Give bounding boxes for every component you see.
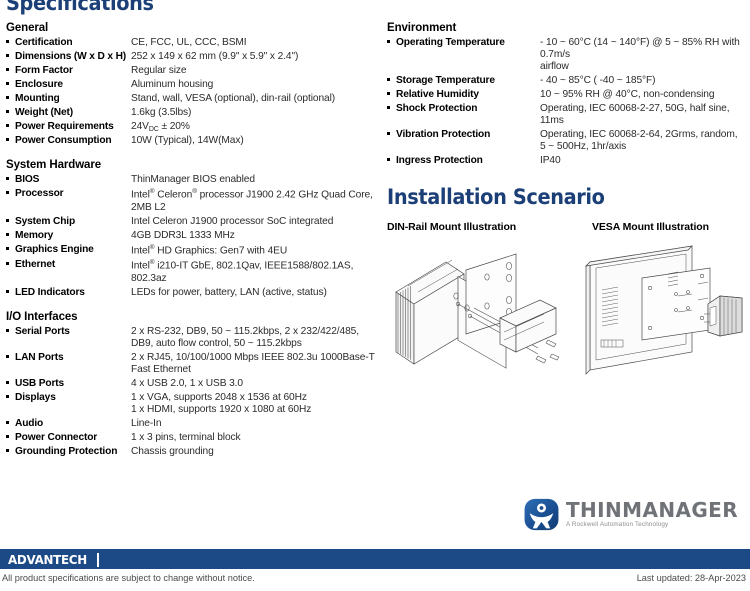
spec-row: EnclosureAluminum housing bbox=[6, 79, 380, 93]
spec-row: System ChipIntel Celeron J1900 processor… bbox=[6, 216, 380, 230]
spec-table-general: CertificationCE, FCC, UL, CCC, BSMIDimen… bbox=[6, 37, 380, 149]
bullet-icon bbox=[6, 216, 15, 227]
bullet-icon bbox=[6, 65, 15, 76]
spec-value: 10 ~ 95% RH @ 40°C, non-condensing bbox=[540, 89, 747, 103]
spec-label: Ethernet bbox=[6, 259, 131, 286]
spec-row: Storage Temperature- 40 ~ 85°C ( -40 ~ 1… bbox=[387, 75, 747, 89]
spec-value: 4 x USB 2.0, 1 x USB 3.0 bbox=[131, 378, 380, 392]
spec-value: Operating, IEC 60068-2-64, 2Grms, random… bbox=[540, 129, 747, 155]
spec-row: Memory4GB DDR3L 1333 MHz bbox=[6, 230, 380, 244]
spec-label: Power Requirements bbox=[6, 121, 131, 135]
bullet-icon bbox=[6, 418, 15, 429]
spec-label: System Chip bbox=[6, 216, 131, 230]
section-heading-environment: Environment bbox=[387, 22, 747, 34]
spec-value: 2 x RJ45, 10/100/1000 Mbps IEEE 802.3u 1… bbox=[131, 352, 380, 378]
thinmanager-mark-icon bbox=[524, 498, 559, 531]
datasheet-page: Specifications General CertificationCE, … bbox=[0, 0, 750, 591]
spec-value: 24VDC ± 20% bbox=[131, 121, 380, 135]
bullet-icon bbox=[387, 155, 396, 166]
bullet-icon bbox=[6, 259, 15, 270]
spec-row: CertificationCE, FCC, UL, CCC, BSMI bbox=[6, 37, 380, 51]
disclaimer-text: All product specifications are subject t… bbox=[2, 573, 255, 583]
spec-label: Memory bbox=[6, 230, 131, 244]
spec-row: Serial Ports2 x RS-232, DB9, 50 ~ 115.2k… bbox=[6, 326, 380, 352]
spec-row: Graphics EngineIntel® HD Graphics: Gen7 … bbox=[6, 244, 380, 259]
advantech-wordmark: ADVANTECH bbox=[8, 552, 87, 567]
spec-value: - 40 ~ 85°C ( -40 ~ 185°F) bbox=[540, 75, 747, 89]
spec-value: ThinManager BIOS enabled bbox=[131, 174, 380, 188]
bullet-icon bbox=[387, 103, 396, 114]
bullet-icon bbox=[6, 352, 15, 363]
spec-label: USB Ports bbox=[6, 378, 131, 392]
spec-row: Weight (Net)1.6kg (3.5lbs) bbox=[6, 107, 380, 121]
spec-value: Aluminum housing bbox=[131, 79, 380, 93]
spec-label: Enclosure bbox=[6, 79, 131, 93]
din-rail-illustration-label: DIN-Rail Mount Illustration bbox=[387, 221, 516, 233]
spec-label: Shock Protection bbox=[387, 103, 540, 129]
section-heading-system-hardware: System Hardware bbox=[6, 159, 380, 171]
bullet-icon bbox=[6, 326, 15, 337]
spec-value: 252 x 149 x 62 mm (9.9" x 5.9" x 2.4") bbox=[131, 51, 380, 65]
bullet-icon bbox=[6, 107, 15, 118]
spec-label: Ingress Protection bbox=[387, 155, 540, 169]
thinmanager-logo: THINMANAGER A Rockwell Automation Techno… bbox=[524, 498, 738, 531]
spec-value: Regular size bbox=[131, 65, 380, 79]
spec-value: 4GB DDR3L 1333 MHz bbox=[131, 230, 380, 244]
spec-row: ProcessorIntel® Celeron® processor J1900… bbox=[6, 188, 380, 215]
spec-label: Audio bbox=[6, 418, 131, 432]
spec-row: Vibration ProtectionOperating, IEC 60068… bbox=[387, 129, 747, 155]
spec-row: LED IndicatorsLEDs for power, battery, L… bbox=[6, 287, 380, 301]
spec-value: 10W (Typical), 14W(Max) bbox=[131, 135, 380, 149]
section-heading-general: General bbox=[6, 22, 380, 34]
spec-label: Displays bbox=[6, 392, 131, 418]
spec-row: Power Requirements24VDC ± 20% bbox=[6, 121, 380, 135]
spec-row: BIOSThinManager BIOS enabled bbox=[6, 174, 380, 188]
bullet-icon bbox=[387, 37, 396, 48]
spec-label: Vibration Protection bbox=[387, 129, 540, 155]
bullet-icon bbox=[6, 392, 15, 403]
vesa-illustration-label: VESA Mount Illustration bbox=[592, 221, 709, 233]
logo-divider bbox=[97, 553, 99, 567]
spec-row: LAN Ports2 x RJ45, 10/100/1000 Mbps IEEE… bbox=[6, 352, 380, 378]
spec-value: Line-In bbox=[131, 418, 380, 432]
spec-value: Chassis grounding bbox=[131, 446, 380, 460]
spec-label: LAN Ports bbox=[6, 352, 131, 378]
bullet-icon bbox=[6, 188, 15, 199]
bullet-icon bbox=[6, 432, 15, 443]
spec-row: Grounding ProtectionChassis grounding bbox=[6, 446, 380, 460]
bullet-icon bbox=[387, 89, 396, 100]
thinmanager-tagline: A Rockwell Automation Technology bbox=[566, 522, 738, 528]
spec-row: AudioLine-In bbox=[6, 418, 380, 432]
spec-label: Storage Temperature bbox=[387, 75, 540, 89]
footer-bar bbox=[0, 549, 750, 569]
spec-label: Relative Humidity bbox=[387, 89, 540, 103]
spec-row: Dimensions (W x D x H)252 x 149 x 62 mm … bbox=[6, 51, 380, 65]
spec-value: IP40 bbox=[540, 155, 747, 169]
spec-value: 1.6kg (3.5lbs) bbox=[131, 107, 380, 121]
bullet-icon bbox=[6, 121, 15, 132]
spec-row: Displays1 x VGA, supports 2048 x 1536 at… bbox=[6, 392, 380, 418]
spec-label: Weight (Net) bbox=[6, 107, 131, 121]
spec-row: Shock ProtectionOperating, IEC 60068-2-2… bbox=[387, 103, 747, 129]
section-heading-io-interfaces: I/O Interfaces bbox=[6, 311, 380, 323]
bullet-icon bbox=[6, 51, 15, 62]
last-updated-text: Last updated: 28-Apr-2023 bbox=[637, 573, 746, 583]
spec-value: 1 x VGA, supports 2048 x 1536 at 60Hz1 x… bbox=[131, 392, 380, 418]
right-column: Environment Operating Temperature- 10 ~ … bbox=[387, 22, 747, 169]
spec-row: Power Consumption10W (Typical), 14W(Max) bbox=[6, 135, 380, 149]
spec-value: Intel® HD Graphics: Gen7 with 4EU bbox=[131, 244, 380, 259]
advantech-logo: ADVANTECH bbox=[8, 552, 99, 567]
spec-label: LED Indicators bbox=[6, 287, 131, 301]
spec-label: Processor bbox=[6, 188, 131, 215]
installation-scenario-title: Installation Scenario bbox=[387, 185, 605, 209]
bullet-icon bbox=[387, 129, 396, 140]
bullet-icon bbox=[6, 37, 15, 48]
spec-label: Power Consumption bbox=[6, 135, 131, 149]
bullet-icon bbox=[6, 135, 15, 146]
spec-label: BIOS bbox=[6, 174, 131, 188]
spec-value: Operating, IEC 60068-2-27, 50G, half sin… bbox=[540, 103, 747, 129]
bullet-icon bbox=[6, 93, 15, 104]
spec-label: Power Connector bbox=[6, 432, 131, 446]
spec-row: Form FactorRegular size bbox=[6, 65, 380, 79]
spec-row: USB Ports4 x USB 2.0, 1 x USB 3.0 bbox=[6, 378, 380, 392]
spec-label: Operating Temperature bbox=[387, 37, 540, 75]
spec-table-io-interfaces: Serial Ports2 x RS-232, DB9, 50 ~ 115.2k… bbox=[6, 326, 380, 460]
spec-table-system-hardware: BIOSThinManager BIOS enabledProcessorInt… bbox=[6, 174, 380, 300]
bullet-icon bbox=[6, 378, 15, 389]
spec-value: 1 x 3 pins, terminal block bbox=[131, 432, 380, 446]
spec-label: Form Factor bbox=[6, 65, 131, 79]
bullet-icon bbox=[6, 230, 15, 241]
spec-label: Mounting bbox=[6, 93, 131, 107]
spec-row: Ingress ProtectionIP40 bbox=[387, 155, 747, 169]
specifications-title: Specifications bbox=[6, 0, 154, 15]
spec-value: CE, FCC, UL, CCC, BSMI bbox=[131, 37, 380, 51]
spec-row: Power Connector1 x 3 pins, terminal bloc… bbox=[6, 432, 380, 446]
spec-value: 2 x RS-232, DB9, 50 ~ 115.2kbps, 2 x 232… bbox=[131, 326, 380, 352]
spec-table-environment: Operating Temperature- 10 ~ 60°C (14 ~ 1… bbox=[387, 37, 747, 169]
bullet-icon bbox=[6, 446, 15, 457]
spec-value: Intel® i210-IT GbE, 802.1Qav, IEEE1588/8… bbox=[131, 259, 380, 286]
din-rail-mount-illustration bbox=[388, 244, 573, 392]
spec-value: Intel® Celeron® processor J1900 2.42 GHz… bbox=[131, 188, 380, 215]
thinmanager-wordmark: THINMANAGER bbox=[566, 500, 738, 520]
left-column: General CertificationCE, FCC, UL, CCC, B… bbox=[6, 22, 380, 460]
bullet-icon bbox=[387, 75, 396, 86]
spec-label: Dimensions (W x D x H) bbox=[6, 51, 131, 65]
vesa-mount-illustration bbox=[580, 244, 748, 392]
bullet-icon bbox=[6, 287, 15, 298]
spec-label: Grounding Protection bbox=[6, 446, 131, 460]
spec-value: LEDs for power, battery, LAN (active, st… bbox=[131, 287, 380, 301]
bullet-icon bbox=[6, 174, 15, 185]
spec-row: Relative Humidity10 ~ 95% RH @ 40°C, non… bbox=[387, 89, 747, 103]
spec-value: - 10 ~ 60°C (14 ~ 140°F) @ 5 ~ 85% RH wi… bbox=[540, 37, 747, 75]
spec-label: Graphics Engine bbox=[6, 244, 131, 259]
spec-label: Serial Ports bbox=[6, 326, 131, 352]
spec-label: Certification bbox=[6, 37, 131, 51]
spec-value: Intel Celeron J1900 processor SoC integr… bbox=[131, 216, 380, 230]
bullet-icon bbox=[6, 79, 15, 90]
spec-row: Operating Temperature- 10 ~ 60°C (14 ~ 1… bbox=[387, 37, 747, 75]
spec-value: Stand, wall, VESA (optional), din-rail (… bbox=[131, 93, 380, 107]
bullet-icon bbox=[6, 244, 15, 255]
spec-row: MountingStand, wall, VESA (optional), di… bbox=[6, 93, 380, 107]
spec-row: EthernetIntel® i210-IT GbE, 802.1Qav, IE… bbox=[6, 259, 380, 286]
